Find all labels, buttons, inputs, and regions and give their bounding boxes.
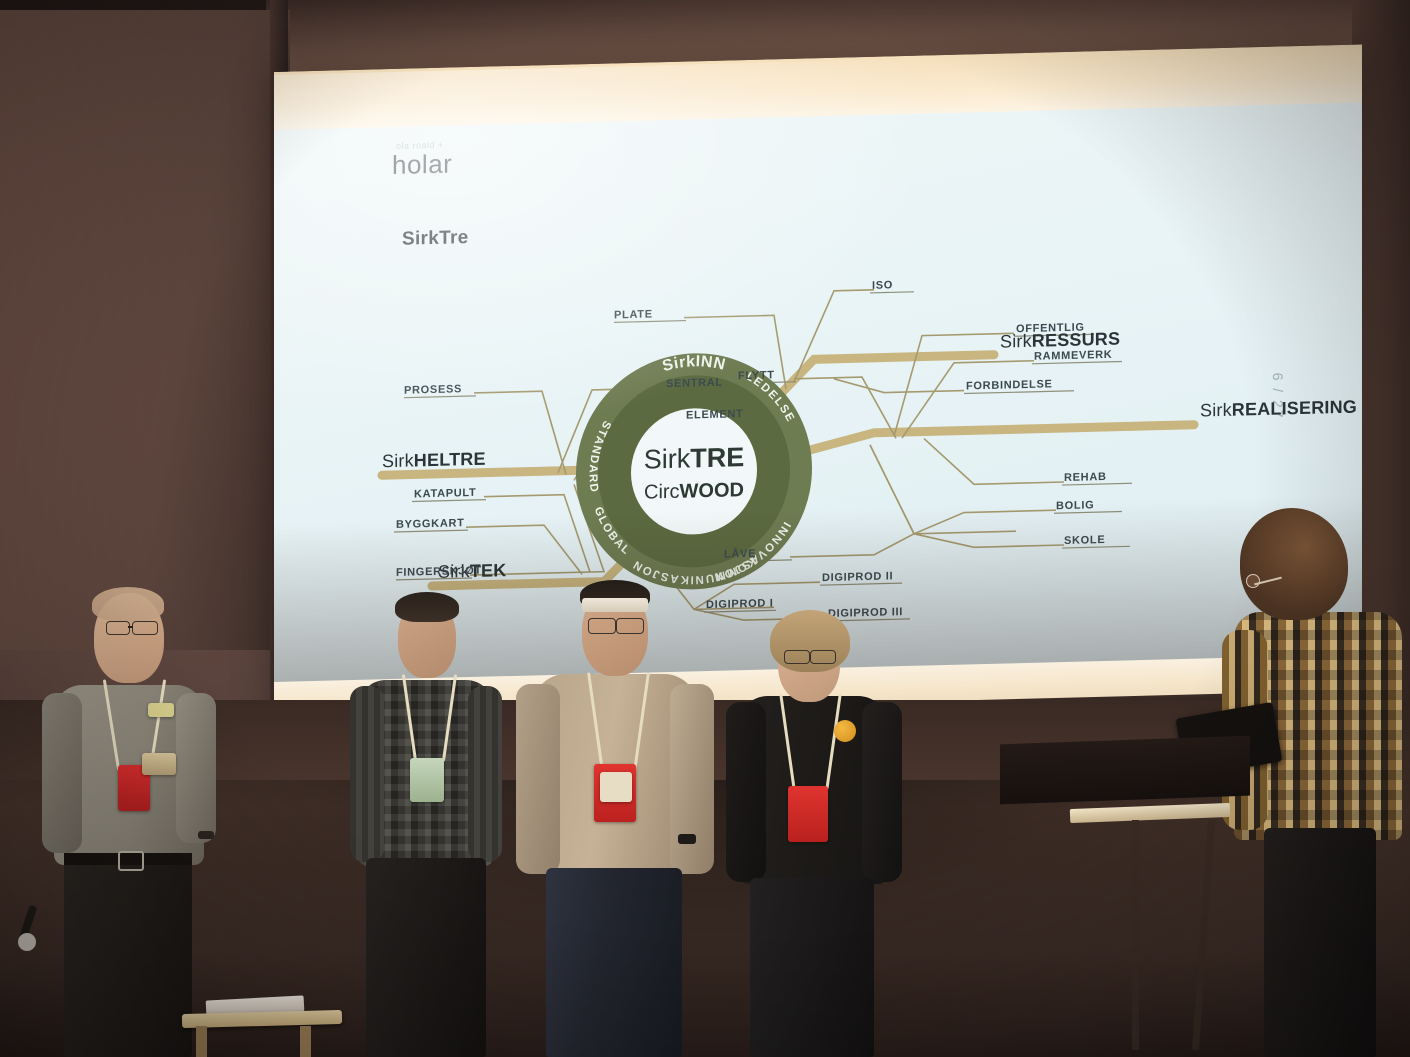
core-circ-light: Circ bbox=[644, 481, 680, 504]
leaf-element: ELEMENT bbox=[686, 408, 743, 421]
leaf-rehab: REHAB bbox=[1064, 471, 1107, 484]
speaker-3-glasses-right bbox=[616, 618, 644, 634]
speaker-1-name-tag bbox=[148, 703, 174, 717]
branch-title-realisering: SirkREALISERING bbox=[1200, 397, 1357, 421]
podium bbox=[1070, 786, 1240, 1057]
leaf-prosess: PROSESS bbox=[404, 383, 462, 396]
speaker-3-badge-card bbox=[600, 772, 632, 802]
podium-surface bbox=[1070, 803, 1230, 823]
leaf-katapult: KATAPULT bbox=[414, 487, 476, 501]
wooden-stool bbox=[182, 1002, 346, 1057]
speaker-4-arm-right bbox=[862, 702, 902, 882]
speaker-4-badge bbox=[788, 786, 828, 842]
podium-post-right bbox=[1192, 820, 1215, 1050]
leaf-digiprod2: DIGIPROD II bbox=[822, 570, 893, 584]
speaker-4-trousers bbox=[750, 878, 874, 1057]
branch-title-heltre: SirkHELTRE bbox=[382, 449, 486, 472]
leaf-flytt: FLYTT bbox=[738, 369, 775, 382]
headset-microphone bbox=[1246, 574, 1260, 588]
heltre-bold: HELTRE bbox=[414, 449, 486, 471]
speaker-1-trousers bbox=[64, 855, 192, 1057]
leaf-lave: LÅVE bbox=[724, 547, 756, 561]
photo-scene: ola roald + holar SirkTre 6 / 27 bbox=[0, 0, 1410, 1057]
core-wood-bold: WOOD bbox=[680, 479, 744, 503]
speaker-2-arm-right bbox=[468, 686, 502, 862]
stool-leg-left bbox=[196, 1026, 207, 1057]
speaker-1-glasses-bridge bbox=[128, 626, 133, 628]
core-subtitle: CircWOOD bbox=[644, 479, 744, 504]
speaker-1-wristwatch bbox=[198, 831, 214, 839]
leaf-fingerskjot: FINGERSKJØT bbox=[396, 565, 482, 579]
speaker-3-arm-left bbox=[516, 684, 560, 874]
speaker-3-headband bbox=[582, 598, 648, 612]
speaker-4-hair bbox=[770, 610, 850, 672]
speaker-1-arm-right bbox=[176, 693, 216, 843]
podium-post-left bbox=[1132, 820, 1139, 1050]
speaker-4-glasses-right bbox=[810, 650, 836, 664]
speaker-3-smartwatch bbox=[678, 834, 696, 844]
leaf-forbindelse: FORBINDELSE bbox=[966, 378, 1053, 392]
speaker-4-glasses-left bbox=[784, 650, 810, 664]
leaf-plate: PLATE bbox=[614, 308, 653, 321]
person-speaker-1 bbox=[30, 575, 240, 1057]
speaker-2-badge bbox=[410, 758, 444, 802]
podium-shade bbox=[1000, 736, 1250, 805]
speaker-2-trousers bbox=[366, 858, 486, 1057]
core-sirk-light: Sirk bbox=[644, 443, 691, 474]
speaker-3-glasses-left bbox=[588, 618, 616, 634]
moderator-skirt bbox=[1264, 828, 1376, 1057]
speaker-4-pin bbox=[834, 720, 856, 742]
speaker-1-glasses-left bbox=[106, 621, 130, 635]
leaf-byggkart: BYGGKART bbox=[396, 517, 465, 531]
leaf-rammeverk: RAMMEVERK bbox=[1034, 349, 1112, 363]
speaker-1-hair bbox=[92, 587, 164, 621]
speaker-3-jeans bbox=[546, 868, 682, 1057]
leaf-bolig: BOLIG bbox=[1056, 499, 1094, 512]
speaker-2-arm-left bbox=[350, 686, 384, 862]
leaf-iso: ISO bbox=[872, 279, 893, 292]
person-speaker-2 bbox=[348, 582, 504, 1057]
speaker-1-arm-left bbox=[42, 693, 82, 853]
speaker-3-arm-right bbox=[670, 684, 714, 874]
speaker-2-hair bbox=[395, 592, 459, 622]
speaker-1-belt-buckle bbox=[118, 851, 144, 871]
moderator-hair bbox=[1240, 508, 1348, 620]
speaker-1-glasses-right bbox=[132, 621, 158, 635]
heltre-light: Sirk bbox=[382, 450, 415, 471]
stool-leg-right bbox=[300, 1026, 311, 1057]
microphone-head bbox=[18, 933, 36, 951]
realisering-bold: REALISERING bbox=[1232, 397, 1357, 420]
speaker-1-badge-card bbox=[142, 753, 176, 775]
realisering-light: Sirk bbox=[1200, 400, 1233, 421]
speaker-4-arm-left bbox=[726, 702, 766, 882]
person-speaker-3 bbox=[510, 572, 720, 1057]
leaf-sentral: SENTRAL bbox=[666, 377, 723, 390]
leaf-skole: SKOLE bbox=[1064, 534, 1105, 547]
speaker-3-turtleneck bbox=[590, 664, 636, 686]
core-title: SirkTRE bbox=[644, 442, 744, 475]
left-wall bbox=[0, 10, 290, 650]
leaf-offentlig: OFFENTLIG bbox=[1016, 321, 1085, 335]
person-speaker-4 bbox=[726, 606, 902, 1057]
core-tre-bold: TRE bbox=[690, 442, 744, 473]
